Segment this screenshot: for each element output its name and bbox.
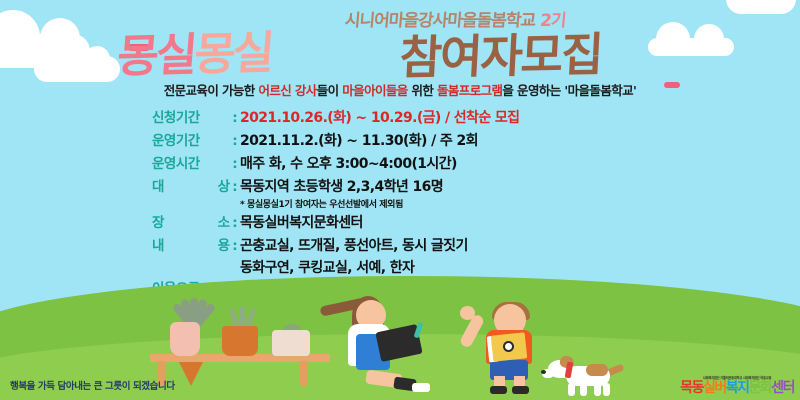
plant-pot-icon xyxy=(272,330,310,356)
info-row-apply-period: 신청기간 : 2021.10.26.(화) ~ 10.29.(금) / 선착순 … xyxy=(152,106,672,127)
tagline-seg6: 돌봄프로그램 xyxy=(437,83,502,98)
footer-slogan: 행복을 가득 담아내는 큰 그릇이 되겠습니다 xyxy=(10,378,175,392)
tagline-seg2: 어르신 강사 xyxy=(258,83,316,98)
info-label: 대 상 xyxy=(152,175,230,195)
boy-shoe xyxy=(512,386,529,394)
dog-leg xyxy=(568,383,575,396)
info-value: 곤충교실, 뜨개질, 풍선아트, 동시 글짓기 xyxy=(240,235,468,255)
girl-shoe xyxy=(412,383,430,392)
dog-leg xyxy=(603,383,610,396)
bench-leg xyxy=(300,361,307,386)
tagline-seg3: 들이 xyxy=(317,83,343,98)
dog-leg xyxy=(594,383,601,396)
logo-word-5: 센터 xyxy=(771,380,794,396)
logo-word-1: 목동 xyxy=(680,380,703,396)
headline-group: 시니어마을강사마을돌봄학교 2기 몽실몽실 참여자모집 xyxy=(0,2,800,70)
plant-sprig xyxy=(240,306,245,328)
tagline-seg5: 위한 xyxy=(408,83,437,98)
info-label-char: 내 xyxy=(152,234,164,254)
info-label: 운영시간 xyxy=(152,152,230,172)
info-value: 2021.11.2.(화) ~ 11.30(화) / 주 2회 xyxy=(240,130,478,150)
info-row-target: 대 상 : 목동지역 초등학생 2,3,4학년 16명 xyxy=(152,175,672,196)
boy-hand xyxy=(460,306,475,320)
logo-word-2: 실버 xyxy=(703,380,726,396)
info-label: 운영기간 xyxy=(152,129,230,149)
info-row-operating-time: 운영시간 : 매주 화, 수 오후 3:00~4:00(1시간) xyxy=(152,152,672,173)
info-note: * 몽실몽실1기 참여자는 우선선발에서 제외됨 xyxy=(240,197,672,210)
title-main-part2: 몽실 xyxy=(192,26,273,81)
info-colon: : xyxy=(230,133,240,149)
info-colon: : xyxy=(230,215,240,231)
info-row-operating-period: 운영기간 : 2021.11.2.(화) ~ 11.30(화) / 주 2회 xyxy=(152,129,672,150)
logo-word-3: 복지 xyxy=(726,380,749,396)
page-subtitle: 참여자모집 xyxy=(398,18,603,88)
logo-word-4: 문화 xyxy=(748,380,771,396)
info-colon: : xyxy=(230,156,240,172)
info-value: 목동지역 초등학생 2,3,4학년 16명 xyxy=(240,176,443,196)
info-label-char: 소 xyxy=(218,211,230,231)
dog-leg xyxy=(580,383,587,396)
plant-stand-icon xyxy=(178,360,204,386)
logo-wordmark: 목동실버복지문화센터 xyxy=(680,381,794,396)
info-label-char: 대 xyxy=(152,175,164,195)
tagline-seg7: 을 운영하는 '마을돌봄학교' xyxy=(502,83,636,98)
page-title: 몽실몽실 xyxy=(115,16,274,85)
info-label-char: 상 xyxy=(218,175,230,195)
dog-nose xyxy=(541,370,546,374)
info-colon: : xyxy=(230,110,240,126)
info-value: 매주 화, 수 오후 3:00~4:00(1시간) xyxy=(240,153,457,173)
info-label: 신청기간 xyxy=(152,106,230,126)
poster-canvas: 시니어마을강사마을돌봄학교 2기 몽실몽실 참여자모집 전문교육이 가능한 어르… xyxy=(0,0,800,400)
book-badge-icon xyxy=(503,341,514,352)
info-value-continuation: 동화구연, 쿠킹교실, 서예, 한자 xyxy=(240,257,672,277)
organization-logo: 사회복지법인 가톨릭관동대학교 사회복지법인 목동교회 목동실버복지문화센터 xyxy=(680,377,794,396)
info-label: 장 소 xyxy=(152,211,230,231)
info-label-char: 장 xyxy=(152,211,164,231)
plant-pot-icon xyxy=(170,322,200,356)
tagline-seg1: 전문교육이 가능한 xyxy=(164,83,259,98)
info-label: 내 용 xyxy=(152,234,230,254)
dog-patch xyxy=(586,364,608,376)
boy-shoe xyxy=(490,386,507,394)
tagline-seg4: 마을아이들을 xyxy=(342,83,407,98)
plant-pot-icon xyxy=(222,326,258,356)
info-colon: : xyxy=(230,238,240,254)
info-row-place: 장 소 : 목동실버복지문화센터 xyxy=(152,211,672,232)
info-label-char: 용 xyxy=(218,234,230,254)
info-value: 목동실버복지문화센터 xyxy=(240,212,363,232)
info-value: 2021.10.26.(화) ~ 10.29.(금) / 선착순 모집 xyxy=(240,107,519,127)
info-row-content: 내 용 : 곤충교실, 뜨개질, 풍선아트, 동시 글짓기 xyxy=(152,234,672,255)
info-colon: : xyxy=(230,179,240,195)
tagline: 전문교육이 가능한 어르신 강사들이 마을아이들을 위한 돌봄프로그램을 운영하… xyxy=(0,80,800,99)
title-main-part1: 몽실 xyxy=(115,28,196,83)
